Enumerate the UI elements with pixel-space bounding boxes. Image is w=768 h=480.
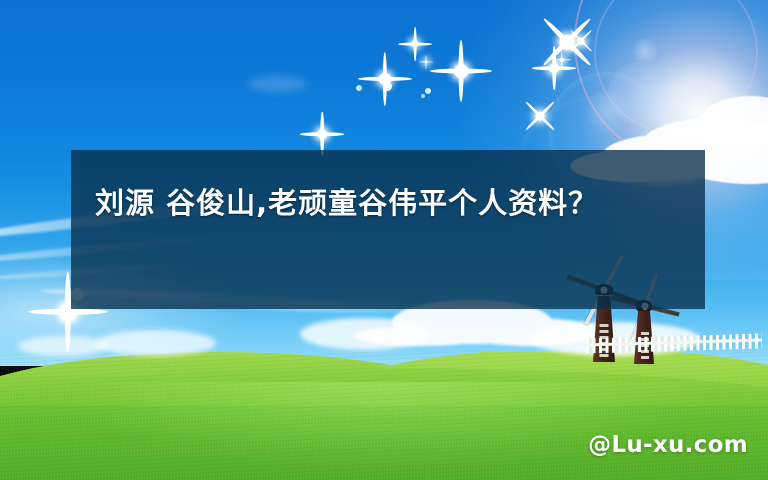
grass-texture — [0, 352, 768, 480]
site-watermark: @Lu-xu.com — [588, 432, 748, 458]
grass-field — [0, 352, 768, 480]
windmill-right — [632, 306, 658, 364]
caption-overlay: 刘源 谷俊山,老顽童谷伟平个人资料？ — [71, 150, 705, 309]
caption-text: 刘源 谷俊山,老顽童谷伟平个人资料？ — [95, 176, 675, 230]
image-canvas: 刘源 谷俊山,老顽童谷伟平个人资料？ @Lu-xu.com — [0, 0, 768, 480]
